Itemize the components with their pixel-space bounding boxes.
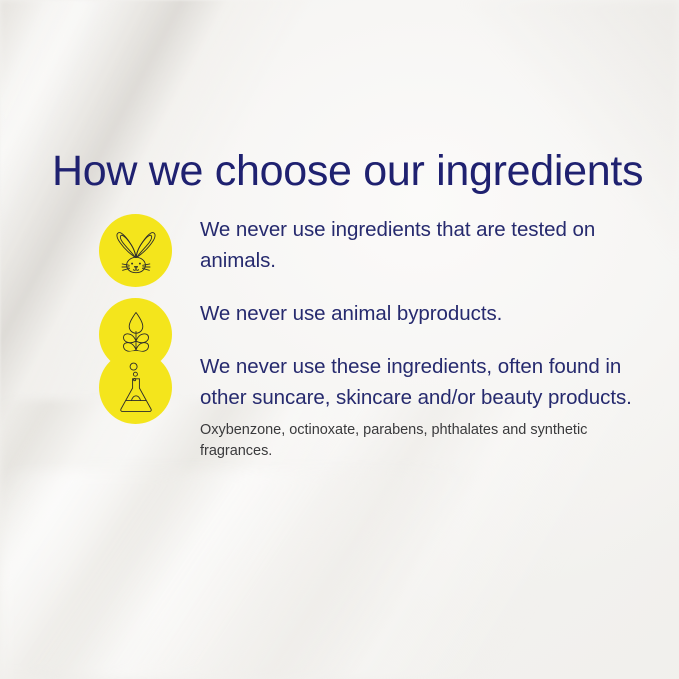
list-item-text: We never use these ingredients, often fo… xyxy=(200,351,679,462)
ingredient-philosophy-panel: How we choose our ingredients xyxy=(0,0,679,679)
bunny-heart-ears-icon xyxy=(113,226,159,276)
list-item-body: We never use ingredients that are tested… xyxy=(200,214,634,276)
list-item-text: We never use ingredients that are tested… xyxy=(200,214,679,276)
background-drape-lower-secondary xyxy=(0,470,679,679)
list-item-body: We never use animal byproducts. xyxy=(200,298,502,329)
benefit-list: We never use ingredients that are tested… xyxy=(0,214,679,462)
list-item-body: We never use these ingredients, often fo… xyxy=(200,351,634,413)
list-item-text: We never use animal byproducts. xyxy=(200,298,547,329)
page-title: How we choose our ingredients xyxy=(52,148,643,195)
list-item: We never use ingredients that are tested… xyxy=(0,214,679,276)
flask-bubbles-icon xyxy=(116,362,156,414)
icon-badge xyxy=(99,351,172,424)
list-item-note: Oxybenzone, octinoxate, parabens, phthal… xyxy=(200,420,634,462)
icon-badge xyxy=(99,214,172,287)
list-item: We never use these ingredients, often fo… xyxy=(0,351,679,462)
list-item: We never use animal byproducts. xyxy=(0,298,679,329)
